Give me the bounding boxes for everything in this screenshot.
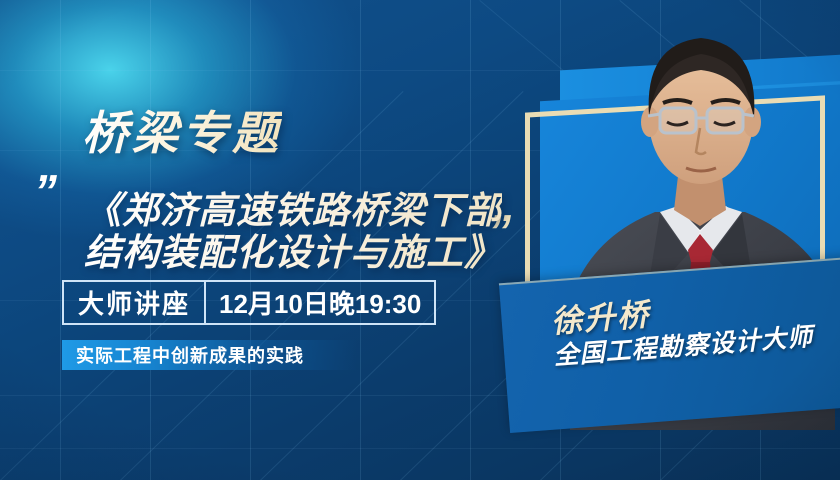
badge-category: 大师讲座	[64, 282, 206, 323]
badge-datetime: 12月10日晚19:30	[206, 282, 434, 323]
webinar-poster: 徐升桥 全国工程勘察设计大师 桥梁专题 ” ” 《郑济高速铁路桥梁下部 结构装配…	[0, 0, 840, 480]
tagline-bar: 实际工程中创新成果的实践	[62, 340, 357, 370]
lecture-info-badge: 大师讲座 12月10日晚19:30	[62, 280, 436, 325]
tagline-text: 实际工程中创新成果的实践	[62, 342, 304, 368]
lecture-title-line-2: 结构装配化设计与施工》	[84, 222, 502, 276]
series-title: 桥梁专题	[82, 97, 282, 163]
text-content-block: 桥梁专题 ” ” 《郑济高速铁路桥梁下部 结构装配化设计与施工》 大师讲座 12…	[0, 0, 540, 480]
quote-open-icon: ”	[34, 168, 55, 214]
